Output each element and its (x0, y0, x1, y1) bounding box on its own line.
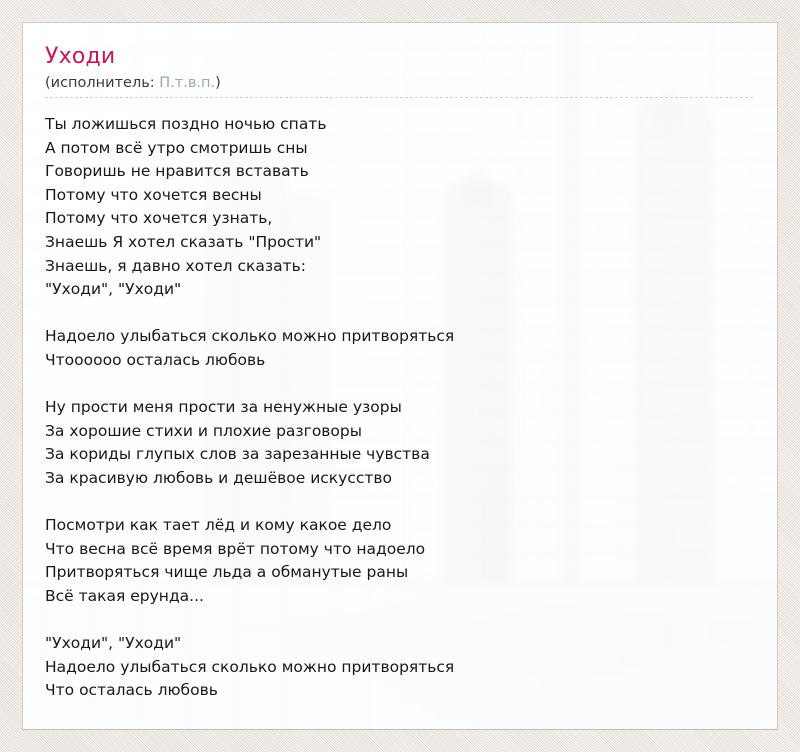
lyric-line: Надоело улыбаться сколько можно притворя… (45, 656, 753, 680)
artist-link[interactable]: П.т.в.п. (159, 75, 215, 91)
artist-line: (исполнитель: П.т.в.п.) (45, 74, 753, 98)
lyric-stanza-gap (45, 491, 753, 515)
lyric-stanza-gap (45, 373, 753, 397)
lyric-line: Знаешь, я давно хотел сказать: (45, 255, 753, 279)
lyric-stanza-gap (45, 608, 753, 632)
lyric-line: За хорошие стихи и плохие разговоры (45, 420, 753, 444)
lyric-line: Потому что хочется узнать, (45, 207, 753, 231)
lyric-line: А потом всё утро смотришь сны (45, 137, 753, 161)
lyric-line: "Уходи", "Уходи" (45, 632, 753, 656)
lyric-line: Что весна всё время врёт потому что надо… (45, 538, 753, 562)
lyric-line: Говоришь не нравится вставать (45, 160, 753, 184)
lyric-line: За красивую любовь и дешёвое искусство (45, 467, 753, 491)
lyric-line: Что осталась любовь (45, 679, 753, 703)
lyric-line: Чтоооооо осталась любовь (45, 349, 753, 373)
lyric-stanza-gap (45, 302, 753, 326)
page-title: Уходи (45, 44, 753, 70)
lyric-line: Всё такая ерунда... (45, 585, 753, 609)
lyric-line: Ну прости меня прости за ненужные узоры (45, 396, 753, 420)
lyrics-card: Уходи (исполнитель: П.т.в.п.) Ты ложишьс… (22, 22, 778, 730)
artist-prefix-label: (исполнитель: (45, 75, 159, 91)
lyrics-text-layer: Уходи (исполнитель: П.т.в.п.) Ты ложишьс… (23, 23, 777, 703)
lyric-line: Ты ложишься поздно ночью спать (45, 113, 753, 137)
lyric-line: Потому что хочется весны (45, 184, 753, 208)
lyric-line: "Уходи", "Уходи" (45, 278, 753, 302)
lyric-line: Посмотри как тает лёд и кому какое дело (45, 514, 753, 538)
lyric-line: Знаешь Я хотел сказать "Прости" (45, 231, 753, 255)
lyric-line: За кориды глупых слов за зарезанные чувс… (45, 443, 753, 467)
lyrics-body: Ты ложишься поздно ночью спатьА потом вс… (45, 98, 753, 703)
lyric-line: Притворяться чище льда а обманутые раны (45, 561, 753, 585)
page-frame: Уходи (исполнитель: П.т.в.п.) Ты ложишьс… (0, 0, 800, 752)
artist-suffix-label: ) (215, 75, 221, 91)
lyric-line: Надоело улыбаться сколько можно притворя… (45, 325, 753, 349)
